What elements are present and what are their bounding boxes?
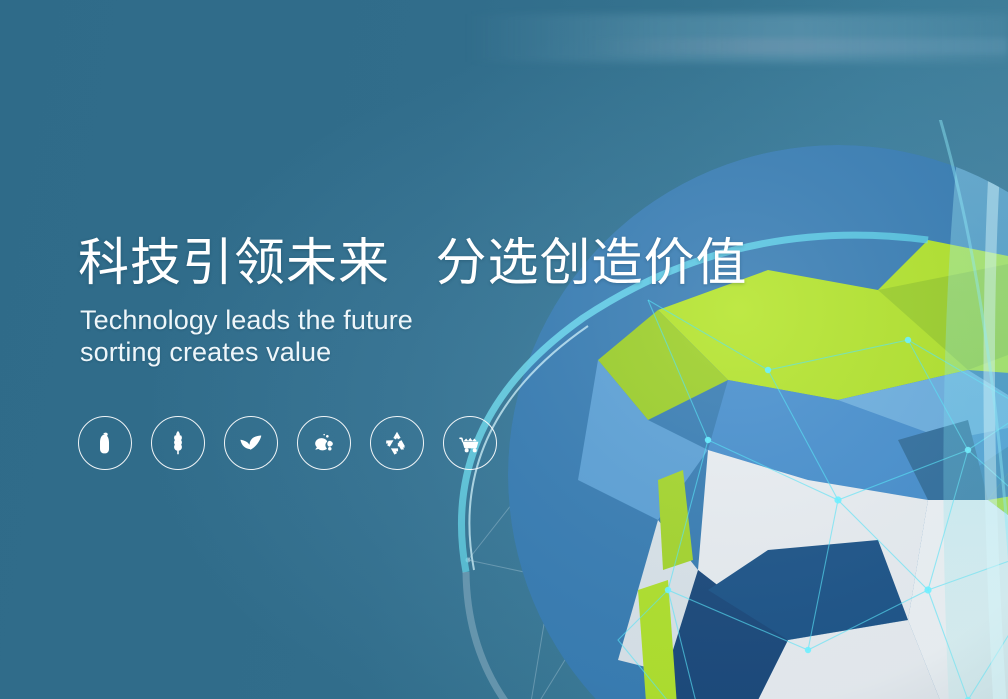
wheat-stalk-icon bbox=[164, 429, 192, 457]
icon-badge-wheat[interactable] bbox=[151, 416, 205, 470]
tea-leaf-icon bbox=[237, 429, 265, 457]
icon-badge-tea-leaf[interactable] bbox=[224, 416, 278, 470]
mine-cart-icon bbox=[456, 429, 484, 457]
subheadline-line-2: sorting creates value bbox=[80, 336, 778, 369]
hero-banner: 科技引领未来 分选创造价值 Technology leads the futur… bbox=[0, 0, 1008, 699]
hero-text-block: 科技引领未来 分选创造价值 Technology leads the futur… bbox=[78, 236, 778, 369]
subheadline-line-1: Technology leads the future bbox=[80, 304, 778, 337]
subheadline-english: Technology leads the future sorting crea… bbox=[80, 304, 778, 370]
rice-grain-icon bbox=[91, 429, 119, 457]
recycle-icon bbox=[383, 429, 411, 457]
industry-icon-row bbox=[78, 416, 497, 470]
fish-icon bbox=[310, 429, 338, 457]
background-light-streak-secondary bbox=[585, 38, 1008, 54]
icon-badge-grain[interactable] bbox=[78, 416, 132, 470]
headline-chinese: 科技引领未来 分选创造价值 bbox=[78, 236, 778, 290]
icon-badge-mine-cart[interactable] bbox=[443, 416, 497, 470]
icon-badge-fish[interactable] bbox=[297, 416, 351, 470]
icon-badge-recycle[interactable] bbox=[370, 416, 424, 470]
